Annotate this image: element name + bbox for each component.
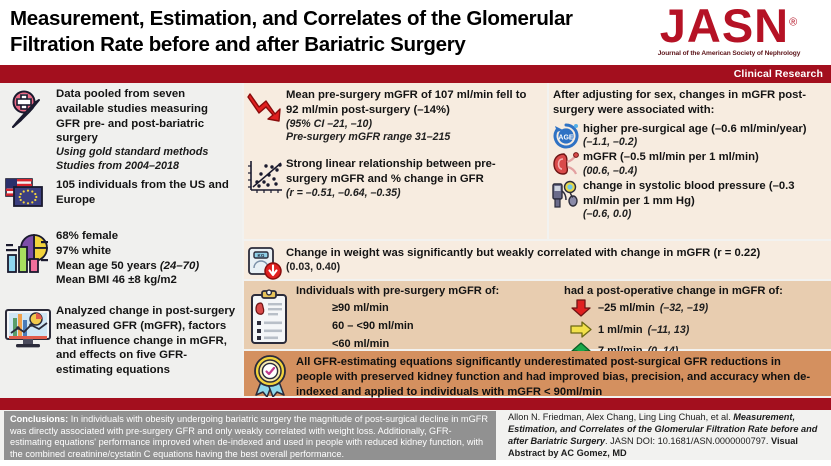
citation-authors: Allon N. Friedman, Alex Chang, Ling Ling… [508, 412, 733, 422]
right-item-bp-ci: (–0.6, 0.0) [583, 208, 821, 222]
mid-block-mgfr-range: Pre-surgery mGFR range 31–215 [286, 131, 536, 145]
right-item-age-text: higher pre-surgical age (–0.6 ml/min/yea… [583, 122, 821, 137]
right-panel: After adjusting for sex, changes in mGFR… [549, 83, 831, 239]
table-cell-value: –25 ml/min [598, 302, 655, 314]
gfr-category-table: Individuals with pre-surgery mGFR of: ≥9… [244, 281, 831, 349]
table-right-header: had a post-operative change in mGFR of: [564, 285, 831, 297]
mid-block-linear-text: Strong linear relationship between pre-s… [286, 157, 536, 187]
weight-band-row: KG Change in weight was significantly bu… [244, 241, 831, 282]
right-item-mgfr: mGFR (–0.5 ml/min per 1 ml/min) (00.6, –… [549, 150, 831, 179]
age-icon: AGE [549, 122, 583, 150]
table-row: 1 ml/min (–11, 13) [564, 317, 831, 338]
right-item-age-text-wrap: higher pre-surgical age (–0.6 ml/min/yea… [583, 122, 821, 151]
demographics-line-2: 97% white [56, 244, 199, 259]
mean-age-range: (24–70) [160, 260, 199, 272]
right-item-age: AGE higher pre-surgical age (–0.6 ml/min… [549, 118, 831, 151]
weight-band-ci: (0.03, 0.40) [286, 261, 814, 275]
kidney-icon [549, 150, 583, 178]
jasn-letters: JASN [660, 0, 789, 52]
mid-block-mgfr-ci: (95% CI –21, –10) [286, 118, 536, 132]
left-block-demographics: 68% female 97% white Mean age 50 years (… [0, 227, 242, 288]
poster-header: Measurement, Estimation, and Correlates … [0, 0, 831, 72]
left-block-demographics-text: 68% female 97% white Mean age 50 years (… [56, 227, 199, 288]
monitor-analytics-icon [0, 303, 56, 351]
footer-red-bar [0, 398, 831, 410]
equations-band-inner: All GFR-estimating equations significant… [244, 351, 831, 400]
mid-block-linear-text-wrap: Strong linear relationship between pre-s… [286, 157, 536, 200]
journal-logo: JASN® Journal of the American Society of… [631, 2, 827, 57]
scatter-plot-icon [244, 157, 286, 197]
equations-band: All GFR-estimating equations significant… [244, 351, 831, 396]
right-panel-heading: After adjusting for sex, changes in mGFR… [549, 83, 829, 118]
right-arrow-yellow-icon [564, 321, 598, 338]
demographics-line-4: Mean BMI 46 ±8 kg/m2 [56, 273, 199, 288]
award-ribbon-icon [244, 355, 296, 397]
conclusions-text: Conclusions: In individuals with obesity… [10, 414, 490, 460]
right-item-mgfr-text-wrap: mGFR (–0.5 ml/min per 1 ml/min) (00.6, –… [583, 150, 821, 179]
table-row: 60 – <90 ml/min [296, 314, 564, 332]
scalpel-icon [0, 87, 56, 133]
table-row: <60 ml/min [296, 332, 564, 350]
conclusions-box: Conclusions: In individuals with obesity… [4, 411, 496, 462]
mid-block-mgfr-text-wrap: Mean pre-surgery mGFR of 107 ml/min fell… [286, 88, 536, 145]
weight-scale-icon: KG [244, 246, 286, 282]
right-item-mgfr-text: mGFR (–0.5 ml/min per 1 ml/min) [583, 150, 821, 165]
left-block-participants-text: 105 individuals from the US and Europe [56, 173, 232, 208]
table-cell-ci: (–11, 13) [643, 324, 690, 336]
mid-panel: Mean pre-surgery mGFR of 107 ml/min fell… [244, 83, 547, 239]
flags-us-eu-icon [0, 173, 56, 215]
right-item-bp-text: change in systolic blood pressure (–0.3 … [583, 179, 821, 209]
mid-block-mgfr-fall: Mean pre-surgery mGFR of 107 ml/min fell… [244, 83, 547, 145]
weight-band-text: Change in weight was significantly but w… [286, 246, 814, 261]
svg-text:KG: KG [258, 253, 265, 258]
right-item-bp: change in systolic blood pressure (–0.3 … [549, 179, 831, 222]
table-row: ≥90 ml/min [296, 297, 564, 314]
mean-age-label: Mean age 50 years [56, 260, 160, 272]
table-left-header: Individuals with pre-surgery mGFR of: [296, 285, 564, 297]
registered-mark-icon: ® [789, 16, 798, 28]
left-block-text: Data pooled from seven available studies… [56, 87, 232, 146]
mid-block-linear-r: (r = –0.51, –0.64, –0.35) [286, 187, 536, 201]
left-block-data-pooled: Data pooled from seven available studies… [0, 87, 242, 174]
demographics-chart-icon [0, 227, 56, 275]
blood-pressure-icon [549, 179, 583, 209]
table-cell-value: 1 ml/min [598, 324, 643, 336]
table-left-column: Individuals with pre-surgery mGFR of: ≥9… [296, 285, 564, 350]
table-row: –25 ml/min (–32, –19) [564, 297, 831, 317]
weight-band: KG Change in weight was significantly bu… [244, 241, 831, 279]
left-block-analysis: Analyzed change in post-surgery measured… [0, 303, 242, 378]
weight-band-text-wrap: Change in weight was significantly but w… [286, 246, 814, 275]
table-cell-ci: (–32, –19) [655, 302, 708, 314]
left-block-note2: Studies from 2004–2018 [56, 160, 232, 174]
table-right-column: had a post-operative change in mGFR of: … [564, 285, 831, 360]
jasn-wordmark: JASN® [660, 2, 798, 49]
page-title: Measurement, Estimation, and Correlates … [10, 6, 640, 58]
mid-block-mgfr-text: Mean pre-surgery mGFR of 107 ml/min fell… [286, 88, 536, 118]
section-label: Clinical Research [734, 66, 823, 82]
right-item-bp-text-wrap: change in systolic blood pressure (–0.3 … [583, 179, 821, 222]
left-block-note1: Using gold standard methods [56, 146, 232, 160]
citation-block: Allon N. Friedman, Alex Chang, Ling Ling… [508, 411, 826, 460]
down-arrow-red-icon [564, 299, 598, 317]
demographics-line-3: Mean age 50 years (24–70) [56, 259, 199, 274]
right-item-mgfr-ci: (00.6, –0.4) [583, 165, 821, 179]
right-item-age-ci: (–1.1, –0.2) [583, 136, 821, 150]
citation-doi: . JASN DOI: 10.1681/ASN.0000000797. [605, 436, 771, 446]
left-panel: Data pooled from seven available studies… [0, 83, 242, 405]
down-arrow-trend-icon [244, 88, 286, 128]
left-block-text-wrap: Data pooled from seven available studies… [56, 87, 232, 174]
table-band-inner: Individuals with pre-surgery mGFR of: ≥9… [244, 281, 831, 360]
equations-band-text: All GFR-estimating equations significant… [296, 355, 816, 400]
header-red-bar [0, 65, 831, 83]
left-block-analysis-text: Analyzed change in post-surgery measured… [56, 303, 238, 378]
mid-block-linear-rel: Strong linear relationship between pre-s… [244, 145, 547, 200]
clipboard-kidney-icon [244, 285, 296, 347]
conclusions-body: In individuals with obesity undergoing b… [10, 414, 488, 459]
visual-abstract-poster: Measurement, Estimation, and Correlates … [0, 0, 831, 466]
footer-white-bar [0, 460, 831, 466]
demographics-line-1: 68% female [56, 229, 199, 244]
conclusions-label: Conclusions: [10, 414, 68, 424]
left-block-participants: 105 individuals from the US and Europe [0, 173, 242, 215]
svg-text:AGE: AGE [558, 134, 574, 141]
